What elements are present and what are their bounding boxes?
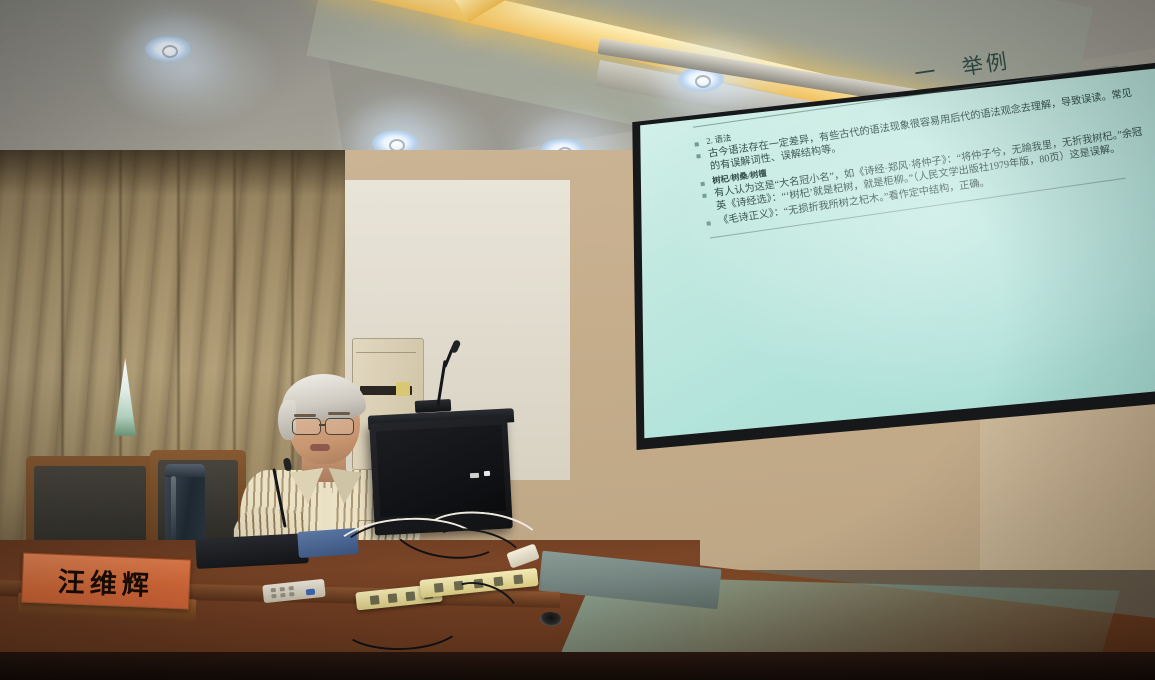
eyebrow-left	[294, 414, 316, 417]
remote-indicator	[306, 589, 316, 596]
remote-button[interactable]	[289, 586, 294, 591]
desk-front-panel	[0, 652, 1155, 680]
control-unit	[195, 533, 308, 569]
eyebrow-right	[328, 412, 350, 415]
remote-button[interactable]	[271, 594, 276, 599]
power-outlet[interactable]	[513, 574, 523, 584]
remote-button[interactable]	[280, 587, 285, 592]
nameplate: 汪维辉	[21, 553, 191, 610]
power-outlet[interactable]	[434, 583, 444, 593]
presenter-mouth	[310, 444, 330, 451]
air-conditioner-seam	[356, 352, 416, 353]
monitor-label	[470, 473, 479, 478]
remote-button[interactable]	[289, 592, 294, 597]
recessed-downlight-icon	[145, 36, 191, 62]
vacuum-flask-cap	[165, 464, 205, 477]
remote-button[interactable]	[271, 588, 276, 593]
vacuum-flask-highlight	[171, 476, 176, 546]
eyeglasses-icon	[292, 418, 360, 434]
monitor-power-led	[484, 471, 490, 476]
power-outlet[interactable]	[493, 577, 503, 587]
glasses-lens-right	[325, 418, 354, 435]
downlight-glow	[100, 10, 280, 130]
nameplate-text: 汪维辉	[57, 560, 155, 603]
remote-button[interactable]	[280, 593, 285, 598]
microphone-base	[415, 399, 452, 413]
presentation-slide: 一 举例 2. 语法 古今语法存在一定差异，有些古代的语法现象很容易用后代的语法…	[654, 25, 1155, 422]
lecture-room-photo: 一 举例 2. 语法 古今语法存在一定差异，有些古代的语法现象很容易用后代的语法…	[0, 0, 1155, 680]
glasses-lens-left	[292, 418, 321, 435]
